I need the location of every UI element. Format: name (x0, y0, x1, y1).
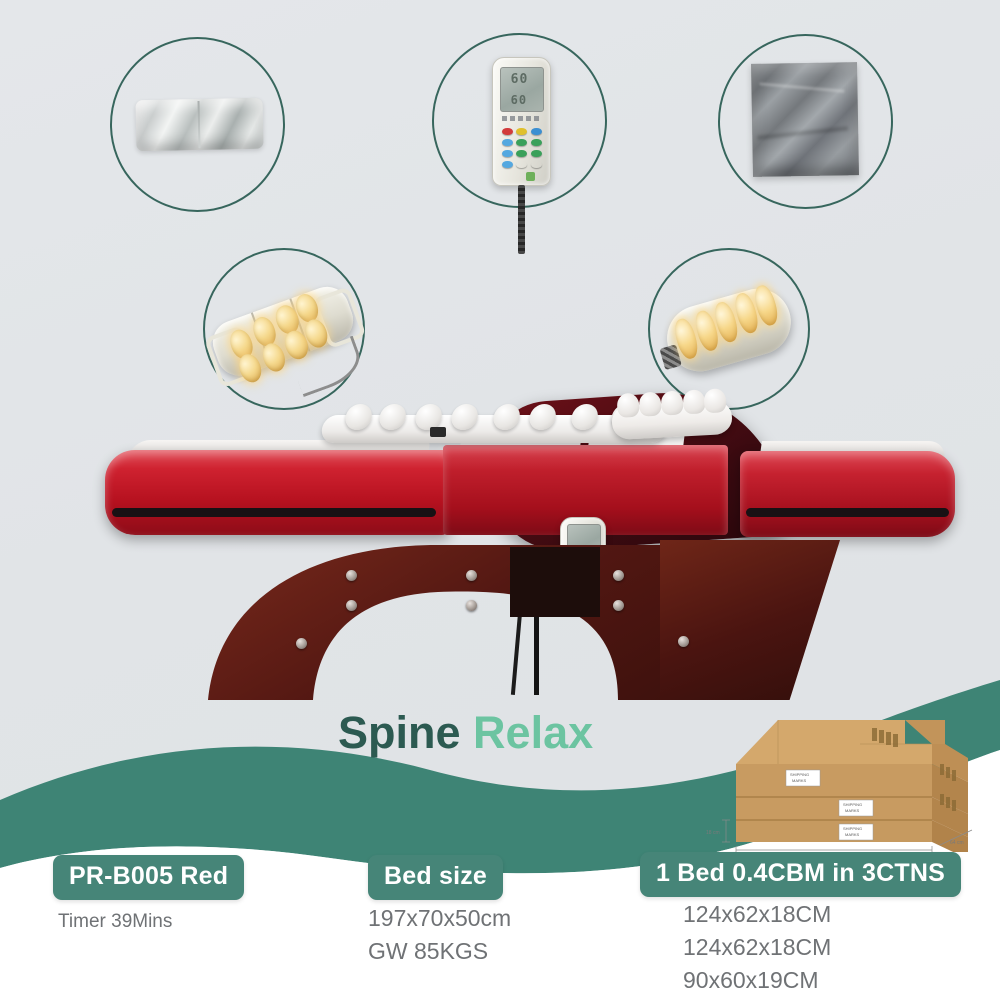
accessory-circle-pillow (110, 37, 285, 212)
svg-text:SHIPPING: SHIPPING (843, 826, 862, 831)
svg-text:SHIPPING: SHIPPING (843, 802, 862, 807)
grey-folded-mat-cover-icon (752, 62, 860, 177)
controller-button-pad (502, 128, 541, 168)
projector-bump (617, 393, 640, 418)
carton-depth-label: 64 cm (950, 840, 964, 846)
carton-size-line: 124x62x18CM (683, 898, 831, 931)
model-detail: Timer 39Mins (58, 911, 172, 933)
controller-lcd-screen: 60 60 (500, 67, 544, 112)
carton-stack-diagram: SHIPPINGMARKS SHIPPINGMARKS SHIPPINGMARK… (700, 702, 985, 852)
carton-height-label: 18 cm (706, 830, 720, 836)
roller-knob (450, 404, 480, 430)
bed-right-mattress (740, 451, 955, 537)
carton-size-line: 124x62x18CM (683, 931, 831, 964)
silver-pillow-icon (135, 98, 263, 152)
badge-bed-size: Bed size (368, 855, 503, 900)
roller-knob (492, 404, 522, 430)
accessory-circle-grey-cloth (718, 34, 893, 209)
carton-size-details: 124x62x18CM 124x62x18CM 90x60x19CM (683, 898, 831, 997)
projector-bump (703, 388, 726, 413)
page-title: Spine Relax (338, 707, 593, 759)
carton-size-line: 90x60x19CM (683, 964, 831, 997)
svg-text:MARKS: MARKS (792, 778, 807, 783)
page-title-part-1: Spine (338, 707, 461, 758)
bed-size-details: 197x70x50cm GW 85KGS (368, 902, 511, 968)
controller-logo (526, 172, 535, 181)
lcd-line-2: 60 (511, 93, 527, 107)
lcd-hand-controller-icon: 60 60 (492, 57, 550, 186)
roller-knob (344, 404, 374, 430)
svg-text:SHIPPING: SHIPPING (790, 772, 809, 777)
roller-knob (378, 404, 408, 430)
bed-size-line: 197x70x50cm (368, 902, 511, 935)
accessory-circle-hand-controller: 60 60 (432, 33, 607, 208)
lcd-line-1: 60 (511, 72, 529, 87)
projector-bump (660, 390, 683, 415)
projector-bump (682, 389, 705, 414)
bed-size-line: GW 85KGS (368, 935, 511, 968)
badge-model: PR-B005 Red (53, 855, 244, 900)
massage-bed-photo (60, 255, 940, 685)
controller-brand-strip (502, 116, 540, 121)
product-infographic: 60 60 (0, 0, 1000, 1000)
controller-cord (518, 185, 525, 255)
projector-bump (639, 392, 662, 417)
bed-left-mattress (105, 450, 450, 535)
svg-text:MARKS: MARKS (845, 808, 860, 813)
page-title-part-2: Relax (473, 707, 593, 758)
bed-jade-projector (611, 400, 733, 440)
badge-carton-volume: 1 Bed 0.4CBM in 3CTNS (640, 852, 961, 897)
track-switch-chip (430, 427, 446, 437)
svg-text:MARKS: MARKS (845, 832, 860, 837)
